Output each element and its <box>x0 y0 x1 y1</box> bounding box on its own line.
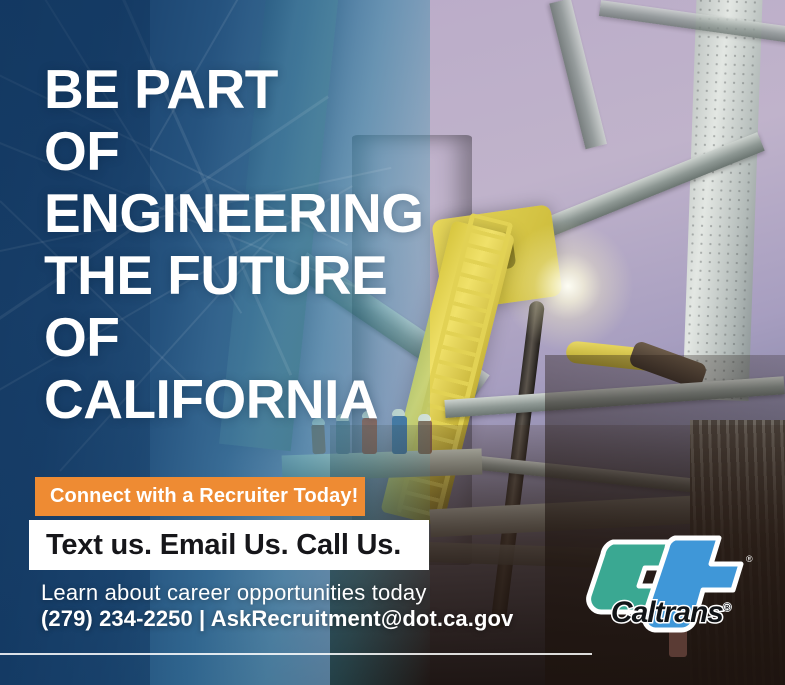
contact-info-text[interactable]: (279) 234-2250 | AskRecruitment@dot.ca.g… <box>41 606 513 632</box>
caltrans-wordmark: Caltrans® <box>583 596 758 630</box>
headline: BE PART OF ENGINEERING THE FUTURE OF CAL… <box>44 58 424 430</box>
recruitment-ad-banner: BE PART OF ENGINEERING THE FUTURE OF CAL… <box>0 0 785 685</box>
bottom-divider-rule <box>0 653 592 655</box>
ad-content: BE PART OF ENGINEERING THE FUTURE OF CAL… <box>0 0 785 685</box>
registered-symbol: ® <box>723 602 730 614</box>
caltrans-wordmark-text: Caltrans <box>611 596 723 629</box>
contact-methods-box: Text us. Email Us. Call Us. <box>29 520 429 570</box>
contact-methods-label: Text us. Email Us. Call Us. <box>29 529 401 562</box>
cta-banner-label: Connect with a Recruiter Today! <box>35 485 358 508</box>
learn-more-text: Learn about career opportunities today <box>41 580 427 606</box>
logo-registered-mark: ® <box>746 554 753 564</box>
caltrans-logo[interactable]: ® Caltrans® <box>583 524 758 644</box>
cta-banner[interactable]: Connect with a Recruiter Today! <box>35 477 365 516</box>
